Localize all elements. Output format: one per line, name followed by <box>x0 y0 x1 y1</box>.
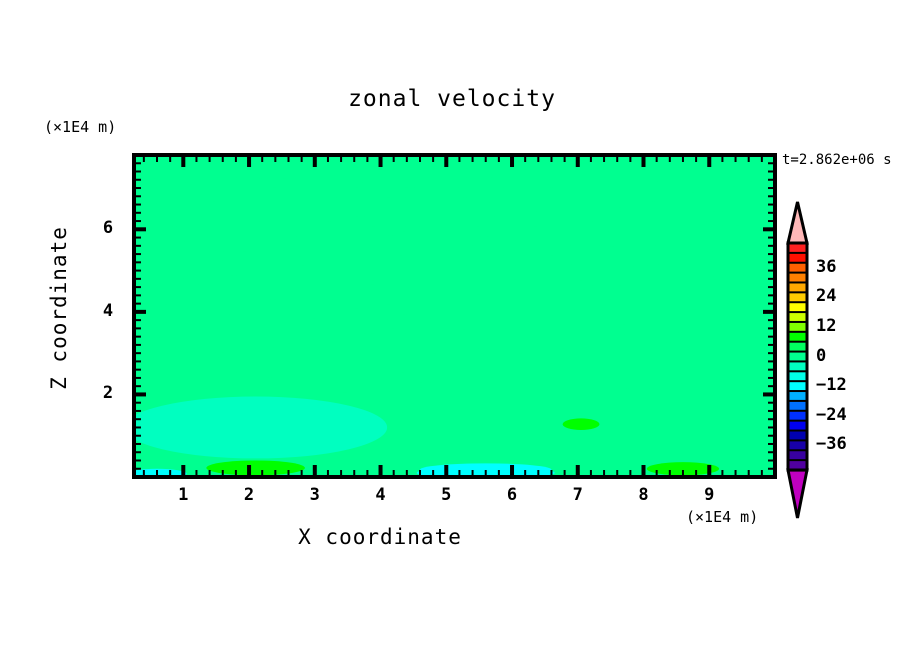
x-tick-label-8: 8 <box>624 485 664 505</box>
x-tick-label-2: 2 <box>229 485 269 505</box>
figure-canvas: zonal velocity (×1E4 m) (×1E4 m) t=2.862… <box>0 0 904 654</box>
x-tick-label-3: 3 <box>295 485 335 505</box>
x-tick-label-6: 6 <box>492 485 532 505</box>
colorbar-label-0: 0 <box>816 346 826 366</box>
x-tick-label-5: 5 <box>426 485 466 505</box>
colorbar-label-neg24: −24 <box>816 405 847 425</box>
x-tick-label-7: 7 <box>558 485 598 505</box>
colorbar-label-24: 24 <box>816 286 836 306</box>
colorbar <box>788 202 807 518</box>
y-tick-label-4: 4 <box>94 301 122 321</box>
colorbar-label-36: 36 <box>816 257 836 277</box>
contour-feature-yellowgreen-blob-x7 <box>563 418 600 430</box>
colorbar-label-neg36: −36 <box>816 434 847 454</box>
contour-feature-yellowgreen-patch-x2 <box>206 460 305 475</box>
y-tick-label-2: 2 <box>94 383 122 403</box>
colorbar-label-neg12: −12 <box>816 375 847 395</box>
x-tick-label-1: 1 <box>163 485 203 505</box>
y-tick-label-6: 6 <box>94 218 122 238</box>
colorbar-label-12: 12 <box>816 316 836 336</box>
x-tick-label-4: 4 <box>361 485 401 505</box>
contour-feature-lower-left-ring <box>124 397 387 459</box>
x-tick-label-9: 9 <box>689 485 729 505</box>
contour-plot <box>0 0 904 654</box>
